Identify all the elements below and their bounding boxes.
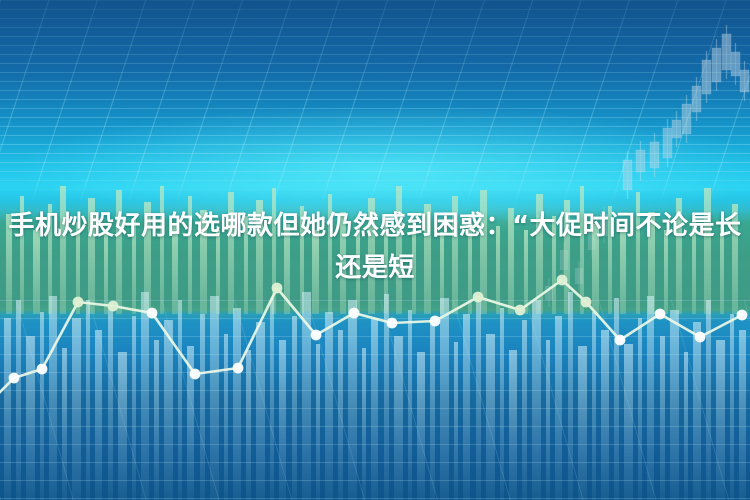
trend-marker (147, 308, 158, 319)
trend-polyline (0, 280, 742, 400)
trend-marker (37, 364, 48, 375)
headline-line-1: 手机炒股好用的选哪款但她仍然感到困惑：“大促时间不论是长 (8, 211, 741, 241)
trend-marker (655, 309, 666, 320)
trend-marker (9, 373, 20, 384)
promo-banner-image: 手机炒股好用的选哪款但她仍然感到困惑：“大促时间不论是长 还是短 (0, 0, 750, 500)
trend-marker (233, 363, 244, 374)
headline-text: 手机炒股好用的选哪款但她仍然感到困惑：“大促时间不论是长 还是短 (0, 205, 750, 289)
headline-line-2: 还是短 (335, 253, 415, 283)
trend-marker (737, 310, 748, 321)
trend-marker (190, 369, 201, 380)
trend-marker (695, 332, 706, 343)
trend-marker (515, 305, 526, 316)
trend-marker (349, 308, 360, 319)
trend-marker (473, 292, 484, 303)
trend-marker (387, 318, 398, 329)
trend-marker (615, 335, 626, 346)
trend-marker (73, 297, 84, 308)
trend-marker (430, 316, 441, 327)
trend-marker (311, 330, 322, 341)
trend-marker (108, 301, 119, 312)
trend-marker (581, 297, 592, 308)
